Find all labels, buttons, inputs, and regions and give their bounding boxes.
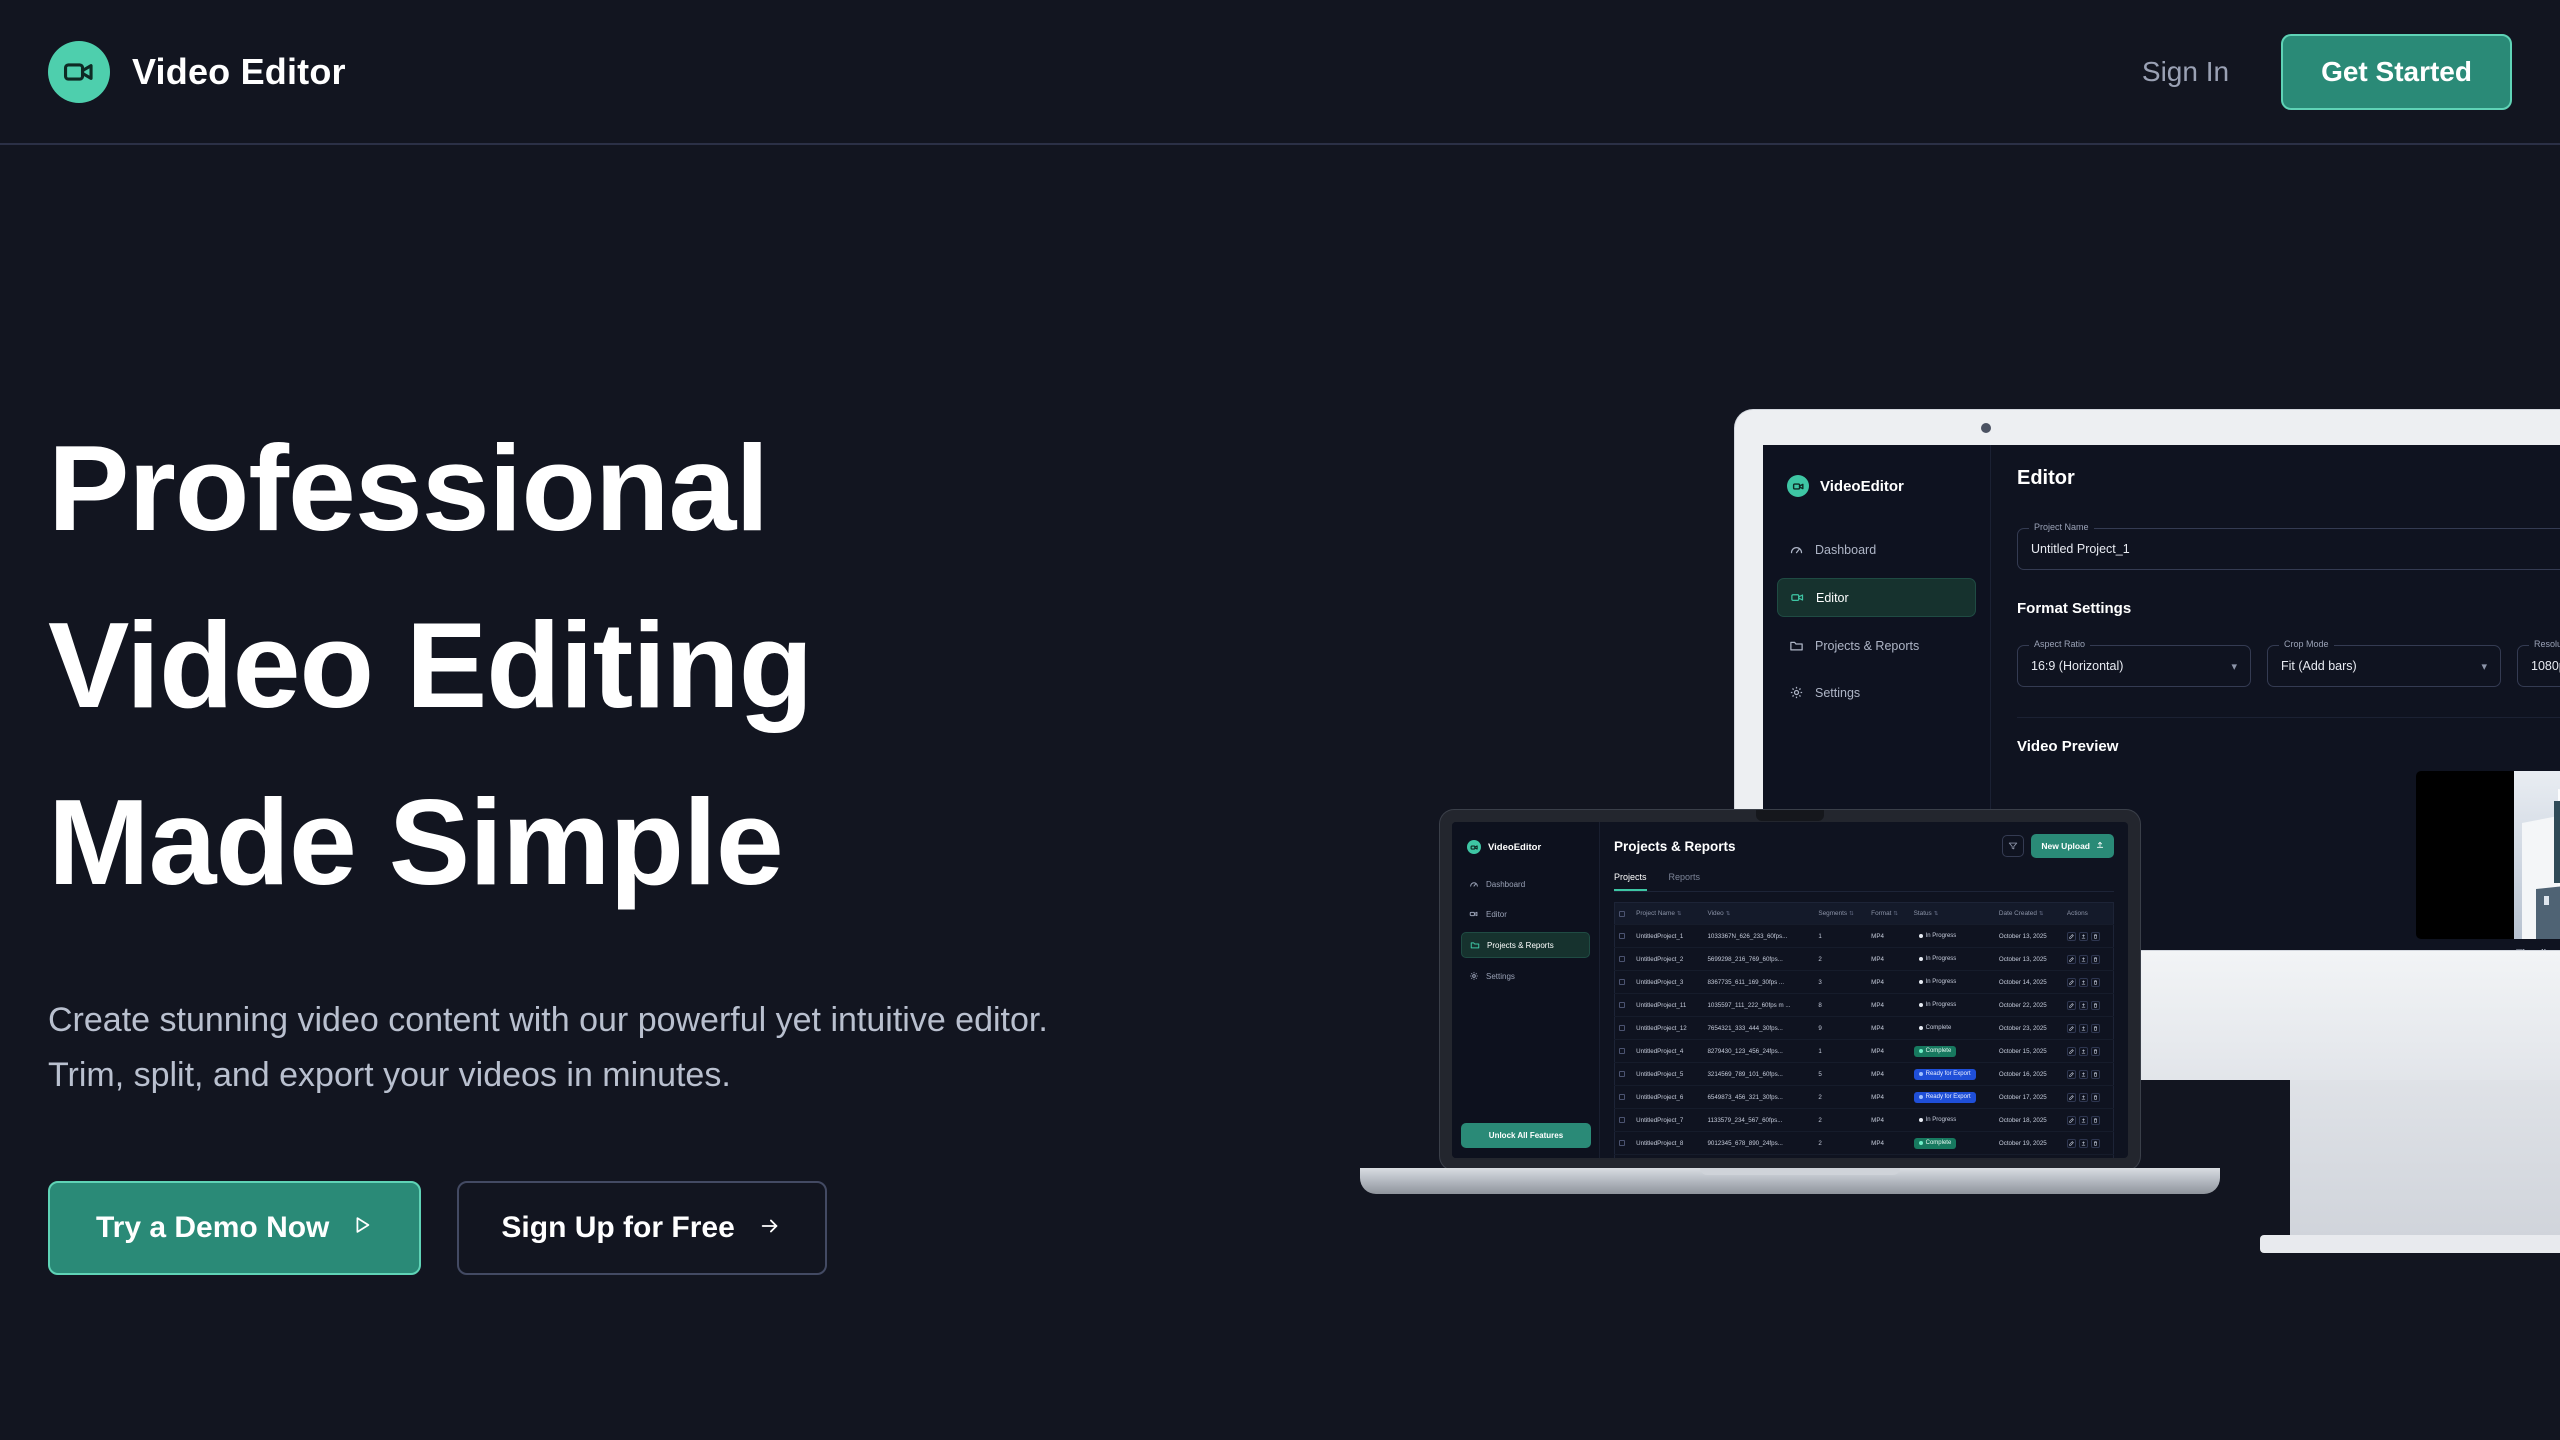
delete-icon[interactable] (2091, 955, 2100, 964)
row-checkbox[interactable] (1619, 1025, 1625, 1031)
hero-section: Professional Video Editing Made Simple C… (48, 400, 1098, 1275)
video-preview-title: Video Preview (2017, 738, 2118, 755)
sidebar-label: Editor (1486, 910, 1507, 919)
edit-icon[interactable] (2067, 1139, 2076, 1148)
row-checkbox[interactable] (1619, 1140, 1625, 1146)
sidebar-item-editor[interactable]: Editor (1461, 902, 1590, 926)
cell-actions (2063, 1109, 2114, 1132)
headline-line-2: Video Editing (48, 577, 1098, 754)
laptop-screen: VideoEditor Dashboard (1452, 822, 2128, 1158)
row-checkbox-cell[interactable] (1615, 971, 1633, 994)
row-checkbox[interactable] (1619, 1117, 1625, 1123)
table-row[interactable]: UntitledProject_53214569_789_101_60fps..… (1615, 1063, 2114, 1086)
video-camera-icon (1787, 475, 1809, 497)
cell-status: Ready for Export (1910, 1155, 1995, 1159)
video-frame-image (2514, 771, 2560, 939)
laptop-base-notch (1700, 1168, 1900, 1175)
status-badge: Complete (1914, 1023, 1957, 1034)
delete-icon[interactable] (2091, 1139, 2100, 1148)
delete-icon[interactable] (2091, 1024, 2100, 1033)
row-checkbox[interactable] (1619, 956, 1625, 962)
cell-video: 8279430_123_456_24fps... (1703, 1040, 1814, 1063)
get-started-button[interactable]: Get Started (2281, 34, 2512, 110)
cell-video: 6549873_456_321_30fps... (1703, 1086, 1814, 1109)
projects-app-logo: VideoEditor (1467, 840, 1590, 854)
export-icon[interactable] (2079, 1024, 2088, 1033)
editor-app-logo: VideoEditor (1787, 475, 1976, 497)
chevron-down-icon: ▾ (2481, 660, 2487, 673)
sidebar-label: Dashboard (1486, 880, 1525, 889)
row-checkbox[interactable] (1619, 1048, 1625, 1054)
row-checkbox[interactable] (1619, 1071, 1625, 1077)
cell-status: Complete (1910, 1017, 1995, 1040)
brand-logo[interactable]: Video Editor (48, 41, 346, 103)
cell-format: MP4 (1867, 1086, 1909, 1109)
cell-video: 5699298_216_769_60fps... (1703, 948, 1814, 971)
export-icon[interactable] (2079, 1047, 2088, 1056)
try-demo-label: Try a Demo Now (96, 1211, 329, 1245)
laptop-lid: VideoEditor Dashboard (1440, 810, 2140, 1170)
cell-project-name: UntitledProject_11 (1632, 994, 1703, 1017)
cell-video: 1133579_234_567_60fps... (1703, 1109, 1814, 1132)
folder-icon (1789, 638, 1804, 653)
cell-project-name: UntitledProject_2 (1632, 948, 1703, 971)
table-row[interactable]: UntitledProject_127654321_333_444_30fps.… (1615, 1017, 2114, 1040)
laptop-notch (1756, 810, 1824, 821)
edit-icon[interactable] (2067, 1024, 2076, 1033)
cell-date-created: October 13, 2025 (1995, 925, 2063, 948)
cell-project-name: UntitledProject_7 (1632, 1109, 1703, 1132)
hero-subheading: Create stunning video content with our p… (48, 993, 1098, 1103)
try-demo-button[interactable]: Try a Demo Now (48, 1181, 421, 1275)
export-icon[interactable] (2079, 932, 2088, 941)
aspect-ratio-label: Aspect Ratio (2029, 639, 2090, 649)
cell-video: 1035597_111_222_60fps m ... (1703, 994, 1814, 1017)
cell-segments: 1 (1814, 1040, 1867, 1063)
video-preview-player[interactable] (2416, 771, 2560, 939)
cell-segments: 2 (1814, 1109, 1867, 1132)
edit-icon[interactable] (2067, 1001, 2076, 1010)
cell-segments: 2 (1814, 1086, 1867, 1109)
row-checkbox-cell[interactable] (1615, 948, 1633, 971)
row-checkbox[interactable] (1619, 1094, 1625, 1100)
cell-status: Ready for Export (1910, 1086, 1995, 1109)
cell-actions (2063, 1040, 2114, 1063)
cell-format: MP4 (1867, 1109, 1909, 1132)
sidebar-item-projects-reports[interactable]: Projects & Reports (1461, 932, 1590, 958)
table-row[interactable]: UntitledProject_71133579_234_567_60fps..… (1615, 1109, 2114, 1132)
cell-actions (2063, 971, 2114, 994)
project-name-field[interactable]: Project Name Untitled Project_1 (2017, 528, 2560, 570)
resolution-select[interactable]: Resolution 1080p (1920x1080) ▾ (2517, 645, 2560, 687)
row-checkbox-cell[interactable] (1615, 1063, 1633, 1086)
cell-format: MP4 (1867, 925, 1909, 948)
row-checkbox-cell[interactable] (1615, 1040, 1633, 1063)
projects-header-actions: New Upload (2002, 834, 2114, 858)
export-icon[interactable] (2079, 1139, 2088, 1148)
aspect-ratio-value: 16:9 (Horizontal) (2031, 659, 2123, 673)
gear-icon (1469, 971, 1479, 981)
cell-video: 1033367N_626_233_60fps... (1703, 925, 1814, 948)
cell-date-created: October 23, 2025 (1995, 1017, 2063, 1040)
col-format[interactable]: Format⇅ (1867, 903, 1909, 925)
cell-video: 2345678_123_456_60fps... (1703, 1155, 1814, 1159)
project-name-label: Project Name (2029, 522, 2094, 532)
sidebar-label: Dashboard (1815, 543, 1876, 557)
export-icon[interactable] (2079, 1001, 2088, 1010)
new-upload-label: New Upload (2041, 841, 2090, 851)
edit-icon[interactable] (2067, 1070, 2076, 1079)
cell-date-created: October 17, 2025 (1995, 1086, 2063, 1109)
cell-format: MP4 (1867, 1063, 1909, 1086)
format-settings-fields: Aspect Ratio 16:9 (Horizontal) ▾ Crop Mo… (2017, 623, 2560, 687)
cell-segments: 2 (1814, 948, 1867, 971)
cell-date-created: October 19, 2025 (1995, 1132, 2063, 1155)
row-checkbox[interactable] (1619, 1002, 1625, 1008)
cell-format: MP4 (1867, 948, 1909, 971)
gear-icon (1789, 685, 1804, 700)
edit-icon[interactable] (2067, 955, 2076, 964)
row-checkbox-cell[interactable] (1615, 994, 1633, 1017)
cell-project-name: UntitledProject_1 (1632, 925, 1703, 948)
col-actions: Actions (2063, 903, 2114, 925)
cell-actions (2063, 1017, 2114, 1040)
col-status[interactable]: Status⇅ (1910, 903, 1995, 925)
sidebar-label: Projects & Reports (1487, 941, 1554, 950)
col-project-name[interactable]: Project Name⇅ (1632, 903, 1703, 925)
folder-icon (1470, 940, 1480, 950)
cell-segments: 1 (1814, 925, 1867, 948)
brand-name: Video Editor (132, 51, 346, 93)
status-badge: Ready for Export (1914, 1092, 1976, 1103)
status-badge: In Progress (1914, 954, 1962, 965)
cell-segments: 5 (1814, 1063, 1867, 1086)
row-checkbox-cell[interactable] (1615, 1109, 1633, 1132)
table-body: UntitledProject_11033367N_626_233_60fps.… (1615, 925, 2114, 1159)
table-row[interactable]: UntitledProject_92345678_123_456_60fps..… (1615, 1155, 2114, 1159)
table-row[interactable]: UntitledProject_89012345_678_890_24fps..… (1615, 1132, 2114, 1155)
cell-project-name: UntitledProject_4 (1632, 1040, 1703, 1063)
projects-tabs: Projects Reports (1614, 872, 2114, 892)
crop-mode-value: Fit (Add bars) (2281, 659, 2357, 673)
headline-line-1: Professional (48, 400, 1098, 577)
play-triangle-icon (351, 1211, 373, 1245)
projects-app-logo-text: VideoEditor (1488, 842, 1541, 853)
row-checkbox-cell[interactable] (1615, 925, 1633, 948)
row-checkbox-cell[interactable] (1615, 1155, 1633, 1159)
cell-status: Ready for Export (1910, 1063, 1995, 1086)
resolution-value: 1080p (1920x1080) (2531, 659, 2560, 673)
tab-projects[interactable]: Projects (1614, 872, 1647, 891)
cell-segments: 9 (1814, 1017, 1867, 1040)
edit-icon[interactable] (2067, 978, 2076, 987)
cell-format: MP4 (1867, 971, 1909, 994)
upload-icon (2096, 841, 2104, 851)
delete-icon[interactable] (2091, 1093, 2100, 1102)
filter-icon[interactable] (2002, 835, 2024, 857)
nav-actions: Sign In Get Started (2142, 34, 2512, 110)
format-settings-title: Format Settings (2017, 600, 2560, 617)
export-icon[interactable] (2079, 1116, 2088, 1125)
row-checkbox-cell[interactable] (1615, 1132, 1633, 1155)
top-navigation-bar: Video Editor Sign In Get Started (0, 0, 2560, 145)
cell-video: 8367735_611_169_30fps ... (1703, 971, 1814, 994)
status-badge: Complete (1914, 1046, 1957, 1057)
table-row[interactable]: UntitledProject_25699298_216_769_60fps..… (1615, 948, 2114, 971)
video-camera-icon (1790, 590, 1805, 605)
cell-actions (2063, 948, 2114, 971)
select-all-checkbox[interactable] (1619, 911, 1625, 917)
sidebar-label: Settings (1815, 686, 1860, 700)
hero-cta-row: Try a Demo Now Sign Up for Free (48, 1181, 1098, 1275)
cell-status: In Progress (1910, 971, 1995, 994)
status-badge: In Progress (1914, 977, 1962, 988)
video-preview-header: Video Preview Video player size (2017, 717, 2560, 755)
cell-actions (2063, 1063, 2114, 1086)
cell-project-name: UntitledProject_3 (1632, 971, 1703, 994)
status-badge: In Progress (1914, 931, 1962, 942)
sidebar-label: Settings (1486, 972, 1515, 981)
sidebar-item-editor[interactable]: Editor (1777, 578, 1976, 617)
cell-segments: 4 (1814, 1155, 1867, 1159)
projects-sidebar: VideoEditor Dashboard (1452, 822, 1600, 1158)
cell-project-name: UntitledProject_5 (1632, 1063, 1703, 1086)
new-upload-button[interactable]: New Upload (2031, 834, 2114, 858)
table-header-row: Project Name⇅ Video⇅ Segments⇅ Format⇅ S… (1615, 903, 2114, 925)
row-checkbox-cell[interactable] (1615, 1086, 1633, 1109)
export-icon[interactable] (2079, 955, 2088, 964)
crop-mode-select[interactable]: Crop Mode Fit (Add bars) ▾ (2267, 645, 2501, 687)
table-row[interactable]: UntitledProject_11033367N_626_233_60fps.… (1615, 925, 2114, 948)
col-date-created[interactable]: Date Created⇅ (1995, 903, 2063, 925)
edit-icon[interactable] (2067, 1093, 2076, 1102)
editor-page-title: Editor (2017, 467, 2075, 490)
cell-date-created: October 16, 2025 (1995, 1063, 2063, 1086)
cell-actions (2063, 1132, 2114, 1155)
cell-date-created: October 13, 2025 (1995, 948, 2063, 971)
export-icon[interactable] (2079, 1093, 2088, 1102)
delete-icon[interactable] (2091, 932, 2100, 941)
export-icon[interactable] (2079, 978, 2088, 987)
sidebar-item-dashboard[interactable]: Dashboard (1461, 872, 1590, 896)
monitor-camera-dot (1981, 423, 1991, 433)
sidebar-item-projects-reports[interactable]: Projects & Reports (1777, 627, 1976, 664)
cell-status: In Progress (1910, 1109, 1995, 1132)
delete-icon[interactable] (2091, 1001, 2100, 1010)
row-checkbox[interactable] (1619, 933, 1625, 939)
sidebar-item-settings[interactable]: Settings (1461, 964, 1590, 988)
projects-table: Project Name⇅ Video⇅ Segments⇅ Format⇅ S… (1614, 902, 2114, 1158)
col-select[interactable] (1615, 903, 1633, 925)
cell-format: MP4 (1867, 1040, 1909, 1063)
cell-actions (2063, 1155, 2114, 1159)
cell-status: Complete (1910, 1132, 1995, 1155)
sidebar-item-settings[interactable]: Settings (1777, 674, 1976, 711)
projects-page-title: Projects & Reports (1614, 839, 1736, 854)
headline-line-3: Made Simple (48, 754, 1098, 931)
monitor-neck (2290, 1080, 2560, 1250)
cell-status: Complete (1910, 1040, 1995, 1063)
edit-icon[interactable] (2067, 932, 2076, 941)
delete-icon[interactable] (2091, 1070, 2100, 1079)
delete-icon[interactable] (2091, 1116, 2100, 1125)
device-mockups: VideoEditor Dashboard Editor (1360, 380, 2560, 1210)
crop-mode-label: Crop Mode (2279, 639, 2334, 649)
sign-up-free-button[interactable]: Sign Up for Free (457, 1181, 826, 1275)
cell-project-name: UntitledProject_6 (1632, 1086, 1703, 1109)
laptop-mockup: VideoEditor Dashboard (1360, 810, 2240, 1230)
cell-actions (2063, 1086, 2114, 1109)
cell-format: MP4 (1867, 994, 1909, 1017)
status-badge: Ready for Export (1914, 1069, 1976, 1080)
table-row[interactable]: UntitledProject_48279430_123_456_24fps..… (1615, 1040, 2114, 1063)
table-row[interactable]: UntitledProject_111035597_111_222_60fps … (1615, 994, 2114, 1017)
sign-in-button[interactable]: Sign In (2142, 56, 2229, 88)
sign-up-label: Sign Up for Free (501, 1211, 734, 1245)
video-camera-icon (1467, 840, 1481, 854)
table-row[interactable]: UntitledProject_66549873_456_321_30fps..… (1615, 1086, 2114, 1109)
cell-date-created: October 14, 2025 (1995, 971, 2063, 994)
cell-project-name: UntitledProject_9 (1632, 1155, 1703, 1159)
video-camera-icon (48, 41, 110, 103)
table-row[interactable]: UntitledProject_38367735_611_169_30fps .… (1615, 971, 2114, 994)
cell-date-created: October 20, 2025 (1995, 1155, 2063, 1159)
status-badge: In Progress (1914, 1000, 1962, 1011)
row-checkbox-cell[interactable] (1615, 1017, 1633, 1040)
export-icon[interactable] (2079, 1070, 2088, 1079)
status-badge: Complete (1914, 1138, 1957, 1149)
landing-page: Video Editor Sign In Get Started Profess… (0, 0, 2560, 1440)
cell-format: MP4 (1867, 1017, 1909, 1040)
cell-date-created: October 18, 2025 (1995, 1109, 2063, 1132)
edit-icon[interactable] (2067, 1047, 2076, 1056)
cell-status: In Progress (1910, 925, 1995, 948)
col-segments[interactable]: Segments⇅ (1814, 903, 1867, 925)
cell-video: 9012345_678_890_24fps... (1703, 1132, 1814, 1155)
cell-format: MP4 (1867, 1155, 1909, 1159)
editor-header: Editor Save Exp (2017, 467, 2560, 502)
cell-date-created: October 22, 2025 (1995, 994, 2063, 1017)
delete-icon[interactable] (2091, 1047, 2100, 1056)
unlock-all-features-button[interactable]: Unlock All Features (1461, 1123, 1591, 1148)
cell-video: 3214569_789_101_60fps... (1703, 1063, 1814, 1086)
cell-project-name: UntitledProject_12 (1632, 1017, 1703, 1040)
sidebar-item-dashboard[interactable]: Dashboard (1777, 531, 1976, 568)
project-name-value: Untitled Project_1 (2031, 542, 2130, 556)
cell-segments: 2 (1814, 1132, 1867, 1155)
cell-actions (2063, 994, 2114, 1017)
cell-project-name: UntitledProject_8 (1632, 1132, 1703, 1155)
cell-segments: 3 (1814, 971, 1867, 994)
video-camera-icon (1469, 909, 1479, 919)
cell-date-created: October 15, 2025 (1995, 1040, 2063, 1063)
delete-icon[interactable] (2091, 978, 2100, 987)
cell-video: 7654321_333_444_30fps... (1703, 1017, 1814, 1040)
tab-reports[interactable]: Reports (1669, 872, 1701, 891)
sidebar-label: Editor (1816, 591, 1849, 605)
cell-status: In Progress (1910, 948, 1995, 971)
cell-actions (2063, 925, 2114, 948)
chevron-down-icon: ▾ (2231, 660, 2237, 673)
col-video[interactable]: Video⇅ (1703, 903, 1814, 925)
sidebar-label: Projects & Reports (1815, 639, 1919, 653)
edit-icon[interactable] (2067, 1116, 2076, 1125)
page-title: Professional Video Editing Made Simple (48, 400, 1098, 931)
monitor-foot (2260, 1235, 2560, 1253)
arrow-right-icon (757, 1211, 783, 1245)
projects-main-panel: Projects & Reports New Upload (1600, 822, 2128, 1158)
row-checkbox[interactable] (1619, 979, 1625, 985)
gauge-icon (1469, 879, 1479, 889)
cell-status: In Progress (1910, 994, 1995, 1017)
editor-app-logo-text: VideoEditor (1820, 478, 1904, 495)
cell-format: MP4 (1867, 1132, 1909, 1155)
cell-segments: 8 (1814, 994, 1867, 1017)
projects-header: Projects & Reports New Upload (1614, 834, 2114, 858)
aspect-ratio-select[interactable]: Aspect Ratio 16:9 (Horizontal) ▾ (2017, 645, 2251, 687)
gauge-icon (1789, 542, 1804, 557)
status-badge: In Progress (1914, 1115, 1962, 1126)
resolution-label: Resolution (2529, 639, 2560, 649)
